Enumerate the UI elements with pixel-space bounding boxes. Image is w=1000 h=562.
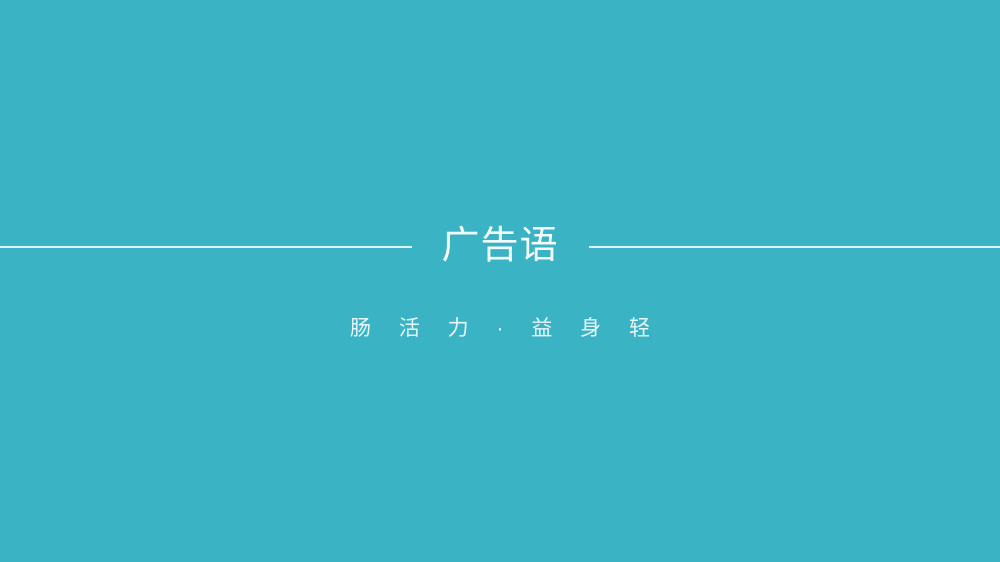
page-title: 广告语 xyxy=(442,227,559,267)
divider-rule-right xyxy=(589,246,1000,248)
divider-rule-left xyxy=(0,246,412,248)
subtitle-container: 肠 活 力 · 益 身 轻 xyxy=(0,316,1000,341)
slide-canvas: 广告语 肠 活 力 · 益 身 轻 xyxy=(0,0,1000,562)
title-band: 广告语 xyxy=(0,0,1000,528)
slide-subtitle: 肠 活 力 · 益 身 轻 xyxy=(339,316,661,341)
